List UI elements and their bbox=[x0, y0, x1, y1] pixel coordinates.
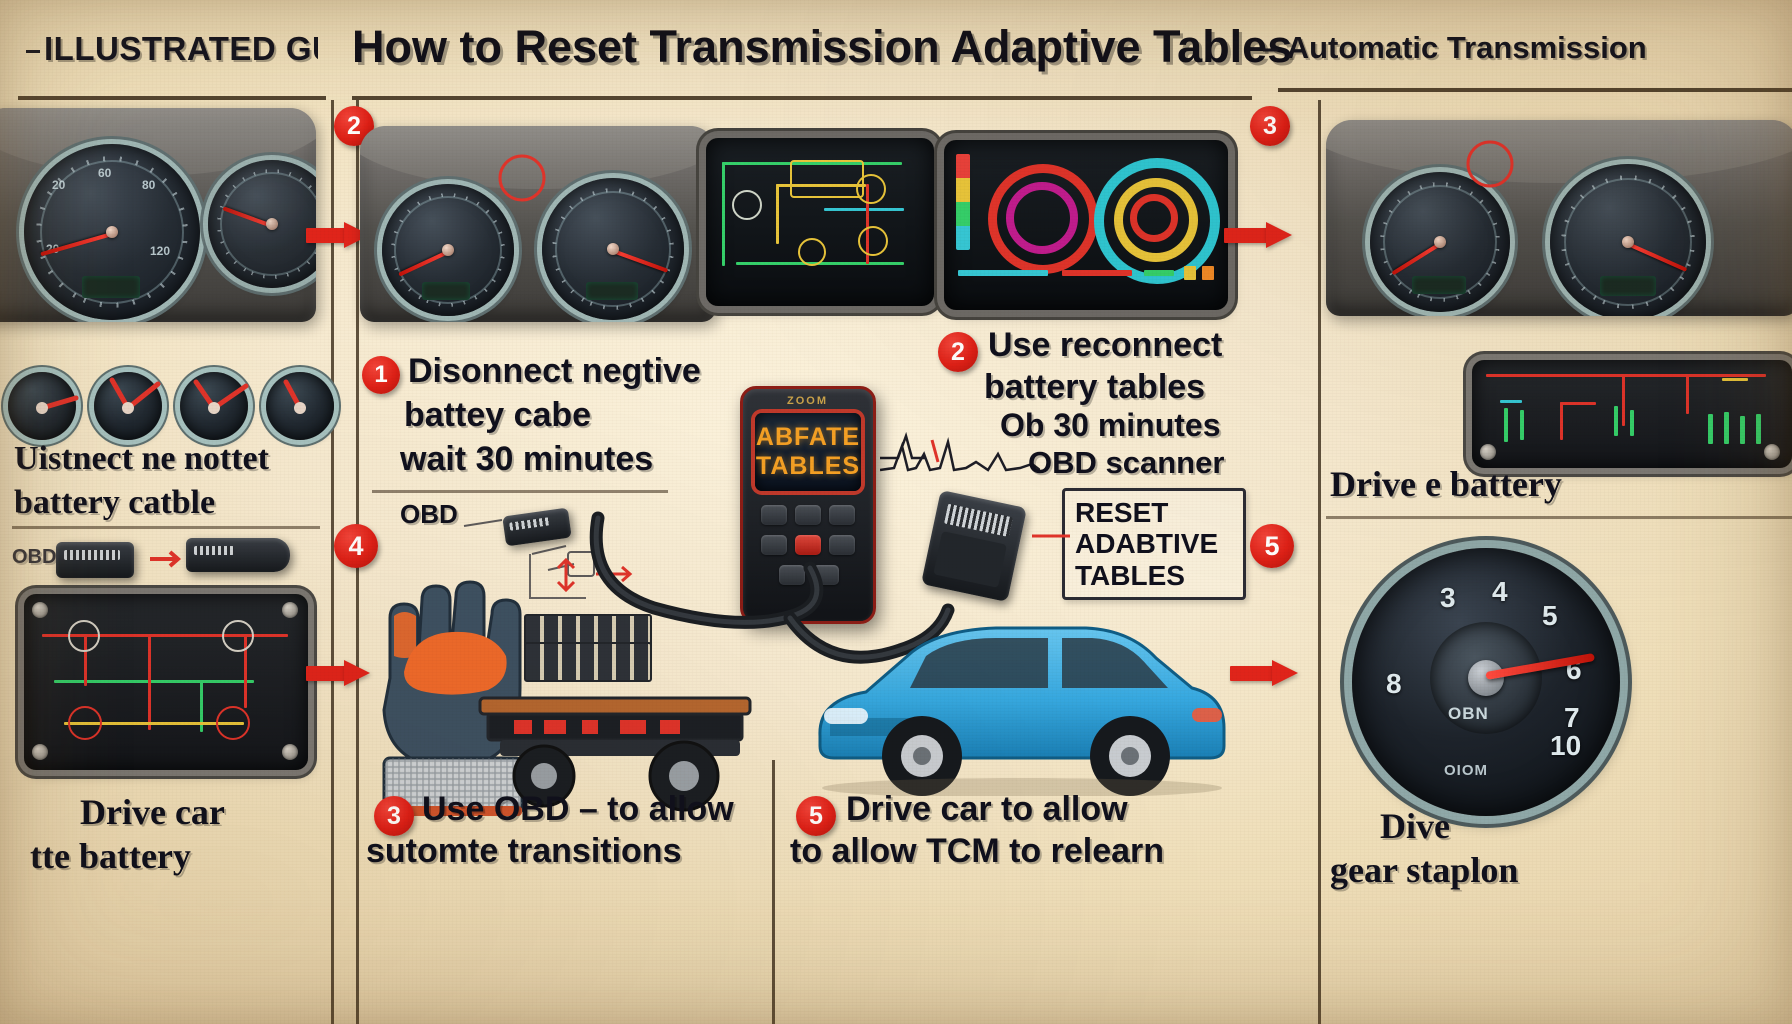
gauge-lcd bbox=[586, 282, 638, 300]
header-rule-right bbox=[1278, 88, 1792, 92]
board-trace bbox=[1622, 374, 1625, 426]
left-obd-label: OBD bbox=[12, 546, 56, 568]
left-connector-arrows bbox=[148, 546, 188, 572]
reset-box-line3: TABLES bbox=[1075, 560, 1233, 591]
board-trace bbox=[148, 634, 151, 730]
board-node bbox=[216, 706, 250, 740]
board-trace bbox=[1724, 412, 1729, 444]
board-trace bbox=[1630, 410, 1634, 436]
screen-ring-2c bbox=[1130, 194, 1178, 242]
board-trace bbox=[1560, 402, 1563, 440]
obd-pins bbox=[194, 546, 234, 555]
step-badge-2: 2 bbox=[938, 332, 978, 372]
page-title: How to Reset Transmission Adaptive Table… bbox=[352, 16, 1252, 78]
step-badge-5: 5 bbox=[796, 796, 836, 836]
left-caption-line2: battery catble bbox=[14, 484, 330, 522]
step-badge-3: 3 bbox=[374, 796, 414, 836]
board-trace bbox=[1756, 414, 1761, 444]
reset-box-pointer bbox=[1030, 516, 1074, 552]
color-rings-screen bbox=[944, 140, 1228, 310]
screen-bar bbox=[1062, 270, 1132, 276]
scan-tool-screen: ABFATE TABLES bbox=[755, 413, 861, 491]
tach-number: 3 bbox=[1440, 582, 1456, 614]
step1-line1: Disonnect negtive bbox=[408, 352, 701, 390]
gauge-number: 120 bbox=[150, 244, 170, 258]
board-trace bbox=[1520, 410, 1524, 440]
center-gauge-right bbox=[542, 178, 684, 320]
step3-line2: sutomte transitions bbox=[366, 832, 681, 870]
screen-bar bbox=[1184, 266, 1196, 280]
step-badge-1: 1 bbox=[362, 356, 400, 394]
gauge-hub bbox=[607, 243, 619, 255]
kicker-tick-left bbox=[26, 50, 40, 53]
gauge-lcd bbox=[422, 282, 470, 300]
reset-box-line2: ADABTIVE bbox=[1075, 528, 1233, 559]
tachometer-gauge bbox=[208, 160, 316, 288]
step3-line1: Use OBD – to allow bbox=[422, 790, 734, 828]
obd-pins bbox=[64, 550, 120, 560]
board-trace bbox=[1560, 402, 1596, 405]
small-gauge-needles bbox=[0, 368, 340, 448]
right-instrument-cluster bbox=[1326, 120, 1792, 316]
board-screw bbox=[1764, 444, 1780, 460]
center-obd-label: OBD bbox=[400, 500, 458, 529]
screen-bar bbox=[1202, 266, 1214, 280]
board-node bbox=[222, 620, 254, 652]
tach-number: 5 bbox=[1542, 600, 1558, 632]
screen-node bbox=[858, 226, 888, 256]
obd-body bbox=[933, 531, 1007, 588]
screen-ring-1b bbox=[1006, 182, 1078, 254]
obd-connector-left-1 bbox=[56, 542, 134, 578]
board-node bbox=[68, 620, 100, 652]
board-trace bbox=[1708, 414, 1713, 444]
step-badge-3-right: 3 bbox=[1250, 106, 1290, 146]
board-trace bbox=[1504, 408, 1508, 442]
obd-scanner-label: OBD scanner bbox=[1028, 446, 1224, 481]
screen-trace bbox=[824, 208, 904, 211]
header-rule-left bbox=[18, 96, 326, 100]
large-tachometer: 3 4 5 6 7 8 10 OBN OIOM bbox=[1352, 548, 1620, 816]
right-caption-rule bbox=[1326, 516, 1792, 519]
right-warning-circle bbox=[1460, 138, 1520, 188]
gauge-number: 20 bbox=[52, 178, 65, 192]
board-screw bbox=[282, 602, 298, 618]
step-badge-5-right: 5 bbox=[1250, 524, 1294, 568]
screen-node bbox=[732, 190, 762, 220]
cluster-hood bbox=[1326, 120, 1792, 183]
step2-line1: Use reconnect bbox=[988, 326, 1222, 364]
center-instrument-cluster bbox=[360, 126, 716, 322]
gauge-number: 80 bbox=[142, 178, 155, 192]
warning-light-circle bbox=[492, 152, 552, 202]
right-bottom-caption-line1: Dive bbox=[1380, 806, 1450, 846]
board-screw bbox=[1480, 444, 1496, 460]
left-caption-line1: Uistnect ne nottet bbox=[14, 440, 330, 478]
infographic-poster: ILLUSTRATED GUIDE How to Reset Transmiss… bbox=[0, 0, 1792, 1024]
kicker-label: ILLUSTRATED GUIDE bbox=[22, 30, 318, 68]
header-rule-center bbox=[352, 96, 1252, 100]
gauge-hub bbox=[1434, 236, 1446, 248]
tach-number: 8 bbox=[1386, 668, 1402, 700]
kicker-text: ILLUSTRATED GUIDE bbox=[44, 30, 318, 67]
gauge-lcd bbox=[1412, 276, 1466, 294]
gauge-hub bbox=[442, 244, 454, 256]
left-bottom-caption-line2: tte battery bbox=[30, 836, 191, 876]
screen-bar bbox=[958, 270, 1048, 276]
right-ecu-board bbox=[1472, 360, 1792, 468]
wiring-diagram-screen bbox=[706, 138, 934, 306]
board-screw bbox=[282, 744, 298, 760]
left-caption-rule bbox=[12, 526, 320, 529]
right-caption-top: Drive e battery bbox=[1330, 464, 1562, 504]
step2-line2: battery tables bbox=[984, 368, 1205, 406]
board-trace bbox=[1686, 374, 1689, 414]
board-trace bbox=[1722, 378, 1748, 381]
gauge-hub bbox=[1622, 236, 1634, 248]
left-instrument-cluster: 20 60 80 20 120 bbox=[0, 108, 316, 322]
screen-trace bbox=[776, 184, 779, 244]
tach-sub-label: OIOM bbox=[1444, 762, 1488, 779]
tach-number: 4 bbox=[1492, 576, 1508, 608]
car-illustration bbox=[800, 596, 1240, 796]
step5-line1: Drive car to allow bbox=[846, 790, 1128, 828]
step1-line3: wait 30 minutes bbox=[400, 440, 653, 478]
board-screw bbox=[32, 602, 48, 618]
center-gauge-left bbox=[382, 184, 514, 316]
screen-bar bbox=[1144, 270, 1174, 276]
flow-arrow-5 bbox=[1230, 660, 1302, 686]
right-bottom-caption-line2: gear staplon bbox=[1330, 850, 1518, 890]
step5-line2: to allow TCM to relearn bbox=[790, 832, 1164, 870]
scan-screen-line2: TABLES bbox=[756, 452, 860, 481]
board-trace bbox=[1500, 400, 1522, 403]
obd-connector-left-2 bbox=[186, 538, 290, 572]
screen-block bbox=[790, 160, 864, 198]
gauge-lcd bbox=[1600, 276, 1656, 296]
tach-center-label: OBN bbox=[1448, 704, 1489, 724]
left-ecu-board bbox=[24, 594, 308, 770]
column-divider-3 bbox=[1318, 100, 1321, 1024]
page-subtitle: – Automatic Transmission bbox=[1262, 30, 1792, 66]
tach-number: 10 bbox=[1550, 730, 1581, 762]
board-screw bbox=[32, 744, 48, 760]
gauge-number: 60 bbox=[98, 166, 111, 180]
board-trace bbox=[1614, 406, 1618, 436]
gauge-hub bbox=[106, 226, 118, 238]
obd-connector-main bbox=[921, 490, 1027, 602]
step1-line2: battey cabe bbox=[404, 396, 591, 434]
left-bottom-caption-line1: Drive car bbox=[80, 792, 225, 832]
gauge-lcd bbox=[82, 276, 140, 298]
scan-tool-brand: ZOOM bbox=[787, 395, 828, 407]
obd-pins bbox=[944, 504, 1013, 537]
speedometer-gauge: 20 60 80 20 120 bbox=[24, 144, 200, 320]
poster-header: ILLUSTRATED GUIDE How to Reset Transmiss… bbox=[0, 0, 1792, 100]
right-gauge-left bbox=[1370, 172, 1510, 312]
reset-adaptive-tables-box: RESET ADABTIVE TABLES bbox=[1062, 488, 1246, 600]
right-gauge-right bbox=[1550, 164, 1706, 316]
reset-box-line1: RESET bbox=[1075, 497, 1233, 528]
board-trace bbox=[1486, 374, 1766, 377]
board-node bbox=[68, 706, 102, 740]
board-trace bbox=[1740, 416, 1745, 444]
gauge-hub bbox=[266, 218, 278, 230]
screen-node bbox=[798, 238, 826, 266]
screen-trace bbox=[722, 162, 725, 266]
screen-color-bar bbox=[956, 154, 970, 250]
flow-arrow-2 bbox=[1224, 222, 1296, 248]
scan-screen-line1: ABFATE bbox=[756, 423, 860, 452]
